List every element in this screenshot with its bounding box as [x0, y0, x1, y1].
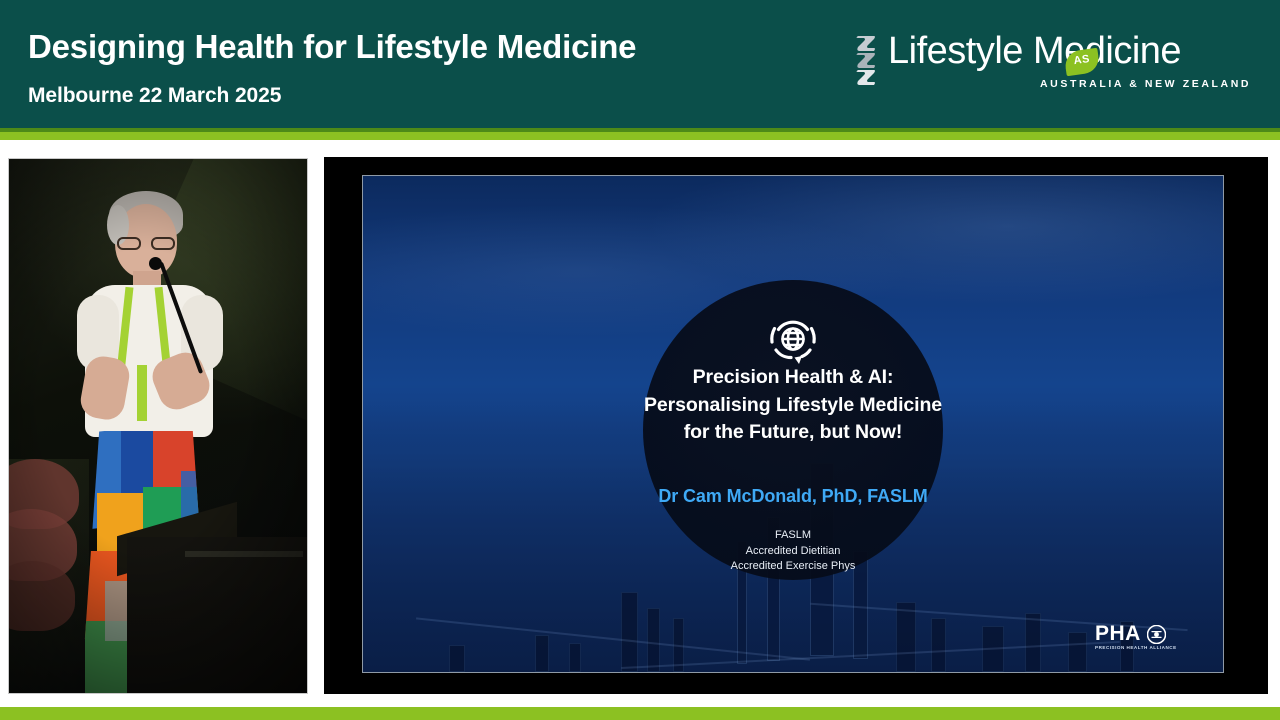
microphone-icon — [149, 257, 162, 270]
slide-panel[interactable]: Precision Health & AI: Personalising Lif… — [324, 157, 1268, 694]
page-subtitle: Melbourne 22 March 2025 — [28, 84, 281, 108]
footer-rule-green — [0, 707, 1280, 720]
header-banner: Designing Health for Lifestyle Medicine … — [0, 0, 1280, 128]
speaker-photo — [9, 159, 307, 693]
pha-logo-subtitle: PRECISION HEALTH ALLIANCE — [1095, 645, 1177, 650]
presentation-frame: Designing Health for Lifestyle Medicine … — [0, 0, 1280, 720]
glasses-icon — [117, 237, 175, 250]
page-title: Designing Health for Lifestyle Medicine — [28, 28, 636, 66]
speaker-video-panel[interactable] — [8, 158, 308, 694]
brand-tagline: AUSTRALIA & NEW ZEALAND — [1040, 78, 1251, 90]
globe-broadcast-icon — [764, 312, 822, 370]
spine-logo-icon — [852, 34, 878, 86]
slide-credentials: FASLM Accredited Dietitian Accredited Ex… — [633, 528, 953, 575]
lectern-edge — [185, 551, 303, 557]
brand-logo: Lifestyle Medicine AS AUSTRALIA & NEW ZE… — [852, 28, 1252, 100]
lectern — [127, 537, 308, 694]
slide-content: Precision Health & AI: Personalising Lif… — [362, 175, 1224, 673]
pha-circle-icon — [1147, 625, 1166, 644]
pha-logo: PHA PRECISION HEALTH ALLIANCE — [1095, 622, 1199, 656]
lanyard-strap-center — [137, 365, 147, 421]
pha-logo-text: PHA — [1095, 622, 1141, 646]
slide-presenter-name: Dr Cam McDonald, PhD, FASLM — [613, 486, 973, 507]
header-rule-green — [0, 132, 1280, 140]
brand-wordmark: Lifestyle Medicine — [888, 30, 1181, 73]
slide-title: Precision Health & AI: Personalising Lif… — [643, 364, 943, 447]
brand-leaf-label: AS — [1064, 52, 1099, 69]
